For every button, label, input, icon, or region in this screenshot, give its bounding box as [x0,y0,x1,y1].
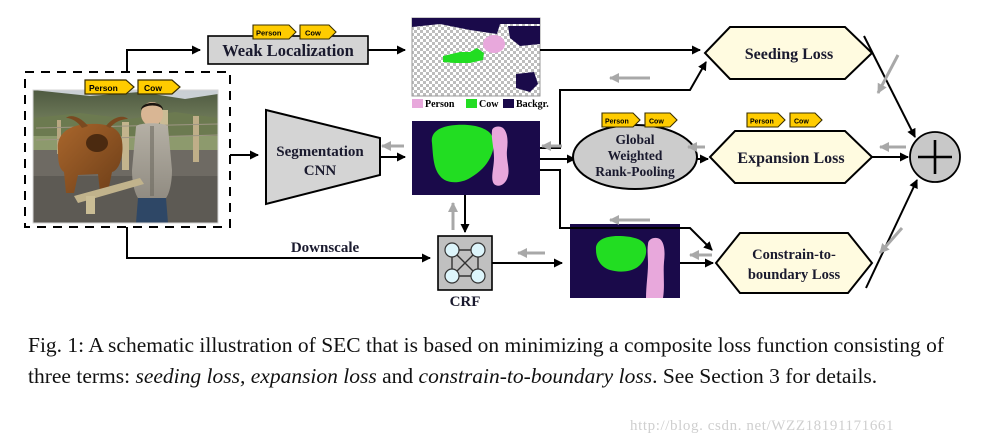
legend-background-label: Backgr. [516,99,549,110]
node-constrain-to-boundary-loss[interactable]: Constrain-to- boundary Loss [716,233,872,293]
edge-input-to-weak-localization [127,50,200,72]
segmentation-cnn-label-2: CNN [304,163,337,179]
figure-caption: Fig. 1: A schematic illustration of SEC … [28,330,958,392]
watermark-text: http://blog. csdn. net/WZZ18191171661 [630,418,894,435]
tag-cow-expansion-label: Cow [794,119,809,126]
node-expansion-loss[interactable]: Expansion Loss [710,131,872,183]
edge-seeding-to-sum [864,36,915,137]
tag-cow-weak-label: Cow [305,29,321,38]
gwrp-label-3: Rank-Pooling [595,164,675,179]
cues-legend: Person Cow Backgr. [412,99,549,110]
tag-cow-expansion: Cow [790,113,822,127]
figure-diagram: Person Cow Weak Localization Person Cow [0,0,984,320]
tag-group-expansion: Person Cow [747,113,822,127]
node-sum[interactable] [910,132,960,182]
caption-term-3: constrain-to-boundary loss [419,364,653,388]
gwrp-label-2: Weighted [608,148,663,163]
tag-person-expansion-label: Person [750,119,774,126]
expansion-loss-label: Expansion Loss [737,150,844,167]
edge-backprop-sum-to-seeding [878,55,898,93]
weak-localization-label: Weak Localization [222,41,354,60]
tag-person-gwrp-label: Person [605,119,629,126]
edge-input-downscale-to-crf: Downscale [127,227,430,258]
caption-mid: and [377,364,419,388]
segmentation-mask-image [412,121,540,195]
tag-person-weak: Person [253,25,296,39]
tag-person-input-label: Person [89,83,118,93]
tag-cow-input: Cow [138,80,180,94]
node-weak-localization[interactable]: Weak Localization [208,36,368,64]
tag-cow-gwrp: Cow [645,113,677,127]
localization-cues-image [412,18,540,96]
crf-mask-image [570,224,680,298]
downscale-label: Downscale [291,240,360,256]
caption-suffix: . See Section 3 for details. [652,364,877,388]
seeding-loss-label: Seeding Loss [745,46,833,63]
crf-label: CRF [450,294,481,310]
caption-term-1: seeding loss, [135,364,250,388]
tag-cow-weak: Cow [300,25,336,39]
legend-cow-label: Cow [479,99,499,110]
tag-person-input: Person [85,80,134,94]
constrain-loss-label-1: Constrain-to- [752,247,836,263]
node-gwrp[interactable]: Global Weighted Rank-Pooling [573,125,697,189]
tag-person-expansion: Person [747,113,785,127]
legend-person-label: Person [425,99,455,110]
edge-backprop-sum-to-constrain [880,228,902,253]
node-seeding-loss[interactable]: Seeding Loss [705,27,872,79]
input-image-group [25,72,230,227]
tag-cow-input-label: Cow [144,83,162,93]
segmentation-cnn-label-1: Segmentation [276,144,364,160]
tag-person-weak-label: Person [256,29,282,38]
node-segmentation-cnn[interactable]: Segmentation CNN [266,110,380,204]
caption-term-2: expansion loss [251,364,377,388]
constrain-loss-label-2: boundary Loss [748,267,841,283]
input-photo [33,90,218,223]
edge-constrain-to-sum [866,180,917,288]
gwrp-label-1: Global [615,132,654,147]
node-crf[interactable]: CRF [438,236,492,310]
tag-cow-gwrp-label: Cow [649,119,664,126]
tag-person-gwrp: Person [602,113,640,127]
